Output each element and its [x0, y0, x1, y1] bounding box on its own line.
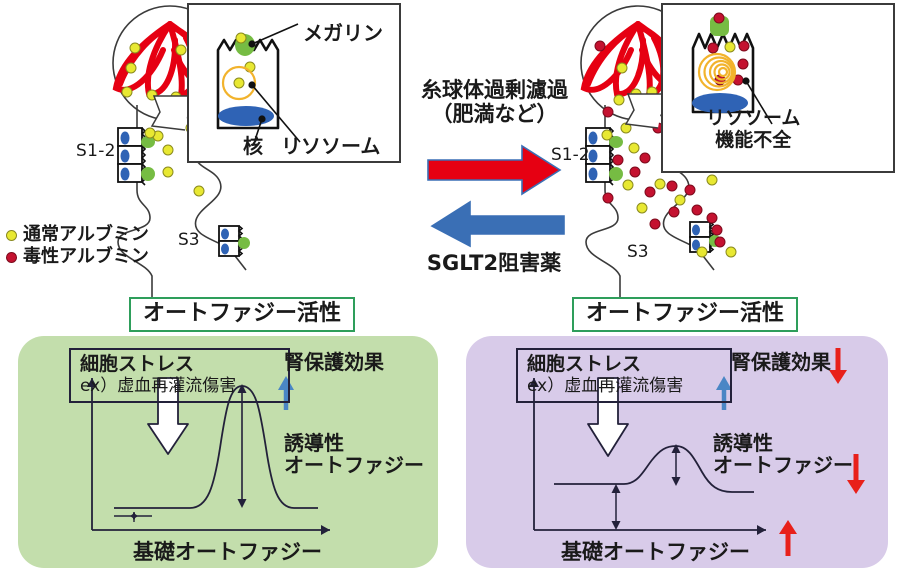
panel-title-normal: オートファジー活性 [129, 297, 355, 332]
segment-label-s3-left: S3 [178, 231, 200, 251]
renal-protection-label-normal: 腎保護効果 [284, 351, 384, 373]
lysosome-dysfunction-line1: リソソーム [706, 108, 800, 130]
s3-tubule-cells-right [690, 222, 725, 257]
induced-autophagy-line2-disease: オートファジー [713, 454, 853, 476]
basal-autophagy-label-normal: 基礎オートファジー [133, 536, 322, 566]
cell-stress-box-normal: 細胞ストレス ex）虚血再灌流傷害 [69, 348, 290, 403]
callout-label-lysosome: リソソーム [281, 135, 380, 158]
lysosome-dysfunction-line2: 機能不全 [706, 130, 800, 152]
cell-stress-box-disease: 細胞ストレス ex）虚血再灌流傷害 [516, 348, 732, 403]
albumin-legend: 通常アルブミン 毒性アルブミン [6, 224, 149, 268]
cell-stress-example-normal: ex）虚血再灌流傷害 [80, 376, 279, 396]
callout-label-nucleus: 核 [243, 135, 263, 158]
s3-tubule-cells-left [219, 226, 250, 256]
induced-autophagy-line1-normal: 誘導性 [284, 432, 424, 454]
callout-label-lysosome-dysfunction: リソソーム 機能不全 [706, 108, 800, 152]
segment-label-s3-right: S3 [627, 243, 649, 263]
cell-stress-title-normal: 細胞ストレス [80, 353, 279, 376]
legend-item-normal-albumin: 通常アルブミン [6, 224, 149, 246]
callout-label-megalin: メガリン [303, 22, 383, 45]
nucleus-icon [218, 106, 274, 126]
segment-label-s1-2-right: S1-2 [551, 146, 590, 166]
basal-autophagy-label-disease: 基礎オートファジー [561, 536, 750, 566]
legend-label-toxic-albumin: 毒性アルブミン [23, 247, 149, 268]
red-dot-icon [6, 252, 17, 263]
renal-protection-label-disease: 腎保護効果 [731, 351, 831, 373]
yellow-dot-icon [6, 230, 17, 241]
induced-autophagy-label-normal: 誘導性 オートファジー [284, 432, 424, 477]
induced-autophagy-line1-disease: 誘導性 [713, 432, 853, 454]
renal-protection-down-arrow-red-icon [829, 348, 847, 384]
cell-stress-example-disease: ex）虚血再灌流傷害 [527, 376, 721, 396]
induced-autophagy-label-disease: 誘導性 オートファジー [713, 432, 853, 477]
segment-label-s1-2-left: S1-2 [76, 142, 116, 162]
panel-title-disease: オートファジー活性 [572, 297, 798, 332]
basal-autophagy-up-arrow-red-icon [779, 520, 797, 556]
induced-autophagy-line2-normal: オートファジー [284, 454, 424, 476]
legend-label-normal-albumin: 通常アルブミン [23, 225, 149, 246]
cell-stress-title-disease: 細胞ストレス [527, 353, 721, 376]
legend-item-toxic-albumin: 毒性アルブミン [6, 246, 149, 268]
